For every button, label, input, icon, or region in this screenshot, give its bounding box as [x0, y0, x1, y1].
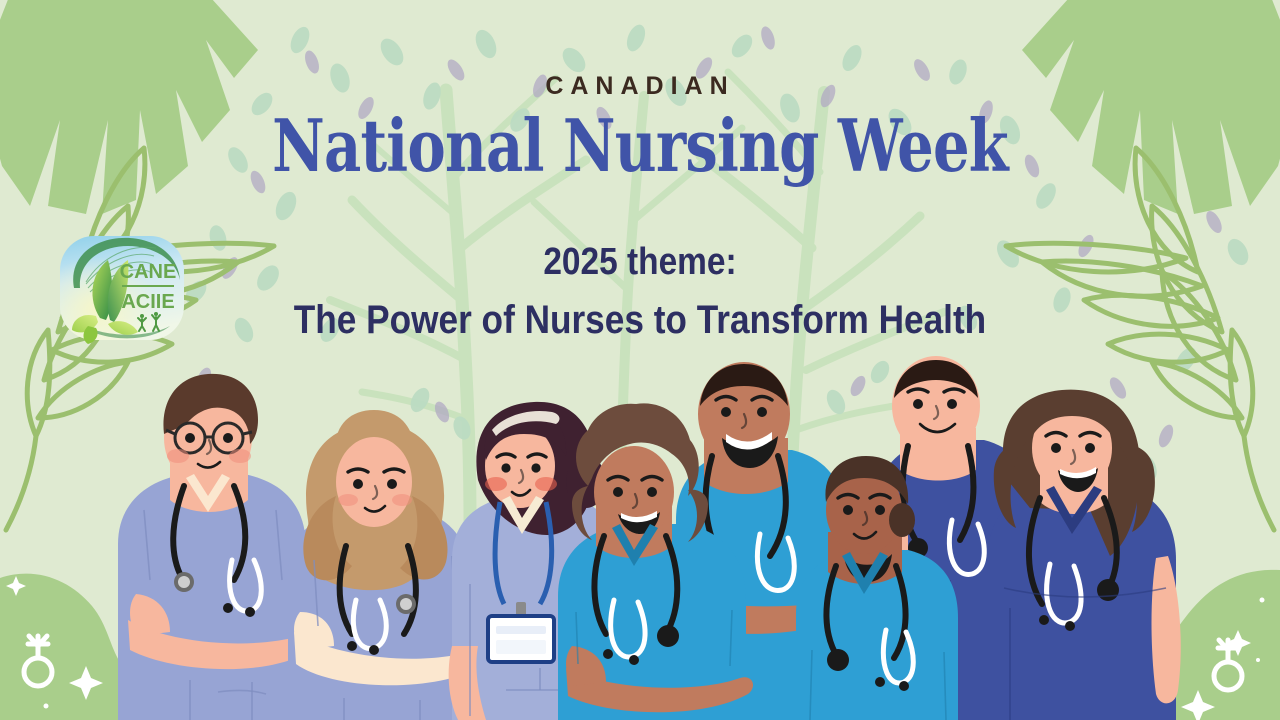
nurse-8-woman-wavy-hair [988, 390, 1181, 720]
nurses-illustration: .sk-l{fill:#f7b79e}.sk-m{fill:#c07b5e}.s… [0, 0, 1280, 720]
poster-canvas: .sk-l{fill:#f7b79e}.sk-m{fill:#c07b5e}.s… [0, 0, 1280, 720]
nurse-1-male-glasses [118, 374, 313, 720]
logo-line-top: CANE [120, 261, 177, 283]
logo-line-bottom: ACIIE [121, 291, 174, 313]
cane-aciie-logo: CANE ACIIE [52, 230, 192, 350]
